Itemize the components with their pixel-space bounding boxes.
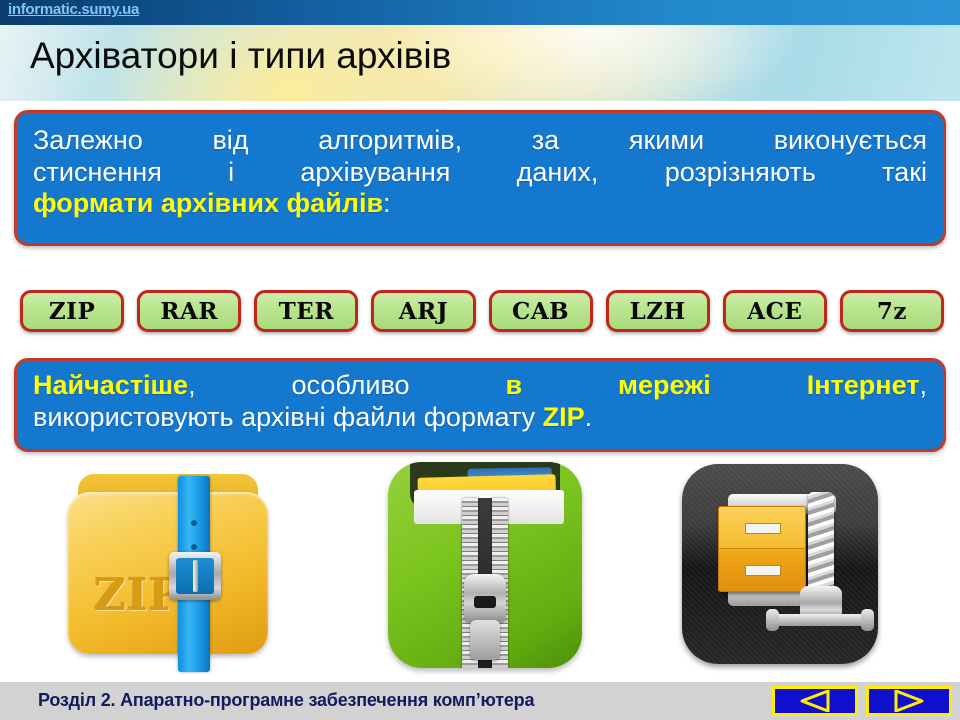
conclusion-line-2-hl: ZIP <box>543 402 585 432</box>
conclusion-line-2: використовують архівні файли формату ZIP… <box>33 402 927 434</box>
conclusion-txt-4 <box>522 370 618 400</box>
clamp-screw-handle <box>772 614 868 626</box>
belt-hole <box>191 544 197 550</box>
footer-bar: Розділ 2. Апаратно-програмне забезпеченн… <box>0 682 960 720</box>
format-badge[interactable]: 7z <box>840 290 944 332</box>
nav-previous-button[interactable] <box>772 686 858 716</box>
conclusion-hl-1: Найчастіше <box>33 370 188 400</box>
zipper-slider-hole <box>474 596 496 608</box>
zip-folder-icon: ZIP <box>62 458 277 673</box>
format-badge[interactable]: ARJ <box>371 290 475 332</box>
format-badge-label: TER <box>279 298 334 325</box>
conclusion-hl-3: в <box>505 370 522 400</box>
folder-shape: ZIP <box>68 474 268 654</box>
archive-icons-row: ZIP <box>0 458 960 680</box>
format-badge-label: 7z <box>877 298 907 325</box>
buckle-pin <box>193 560 198 592</box>
belt-hole <box>191 520 197 526</box>
title-band: Архіватори і типи архівів <box>0 25 960 101</box>
format-badge-label: ACE <box>747 298 802 325</box>
format-badge[interactable]: LZH <box>606 290 710 332</box>
conclusion-callout-text: Найчастіше, особливо в мережі Інтернет, … <box>33 370 927 433</box>
black-square-body <box>682 464 878 664</box>
format-badge-row: ZIP RAR TER ARJ CAB LZH ACE 7z <box>20 290 944 332</box>
intro-highlight: формати архівних файлів <box>33 188 383 218</box>
cabinet-drawer-label <box>745 523 781 534</box>
file-cabinet <box>718 506 806 592</box>
intro-callout-text: Залежно від алгоритмів, за якими виконує… <box>33 125 927 220</box>
zipper-pull-tab <box>470 620 500 660</box>
footer-section-text: Розділ 2. Апаратно-програмне забезпеченн… <box>38 690 534 711</box>
top-url-bar: informatic.sumy.ua <box>0 0 960 25</box>
clamp-screw-rod <box>808 492 834 592</box>
triangle-right-icon <box>892 690 926 712</box>
format-badge[interactable]: ZIP <box>20 290 124 332</box>
format-badge-label: LZH <box>630 298 686 325</box>
intro-line-3: формати архівних файлів: <box>33 188 927 220</box>
conclusion-callout-box: Найчастіше, особливо в мережі Інтернет, … <box>14 358 946 452</box>
format-badge[interactable]: TER <box>254 290 358 332</box>
intro-line-1: Залежно від алгоритмів, за якими виконує… <box>33 125 927 157</box>
conclusion-txt-8: , <box>919 370 927 400</box>
conclusion-hl-5: мережі <box>618 370 711 400</box>
conclusion-line-1: Найчастіше, особливо в мережі Інтернет, <box>33 370 927 402</box>
intro-line-2: стиснення і архівування даних, розрізняю… <box>33 157 927 189</box>
green-square-body <box>388 462 582 668</box>
conclusion-line-2-text: використовують архівні файли формату <box>33 402 543 432</box>
green-zipper-icon <box>378 458 593 673</box>
intro-callout-box: Залежно від алгоритмів, за якими виконує… <box>14 110 946 246</box>
site-link[interactable]: informatic.sumy.ua <box>8 1 139 18</box>
format-badge-label: CAB <box>512 298 569 325</box>
triangle-left-icon <box>798 690 832 712</box>
format-badge-label: ARJ <box>399 298 448 325</box>
belt-buckle <box>169 552 221 600</box>
zipper-slider <box>464 574 506 622</box>
intro-line-3-tail: : <box>383 188 391 218</box>
cabinet-drawer-divider <box>719 548 805 549</box>
format-badge[interactable]: CAB <box>489 290 593 332</box>
conclusion-txt-6 <box>711 370 807 400</box>
format-badge[interactable]: RAR <box>137 290 241 332</box>
conclusion-txt-2: , особливо <box>188 370 505 400</box>
conclusion-line-2-tail: . <box>585 402 593 432</box>
page-title: Архіватори і типи архівів <box>30 35 451 77</box>
conclusion-hl-7: Інтернет <box>807 370 920 400</box>
nav-next-button[interactable] <box>866 686 952 716</box>
format-badge[interactable]: ACE <box>723 290 827 332</box>
format-badge-label: ZIP <box>49 298 95 325</box>
winzip-clamp-icon <box>672 458 887 673</box>
cabinet-drawer-label <box>745 565 781 576</box>
format-badge-label: RAR <box>160 298 218 325</box>
